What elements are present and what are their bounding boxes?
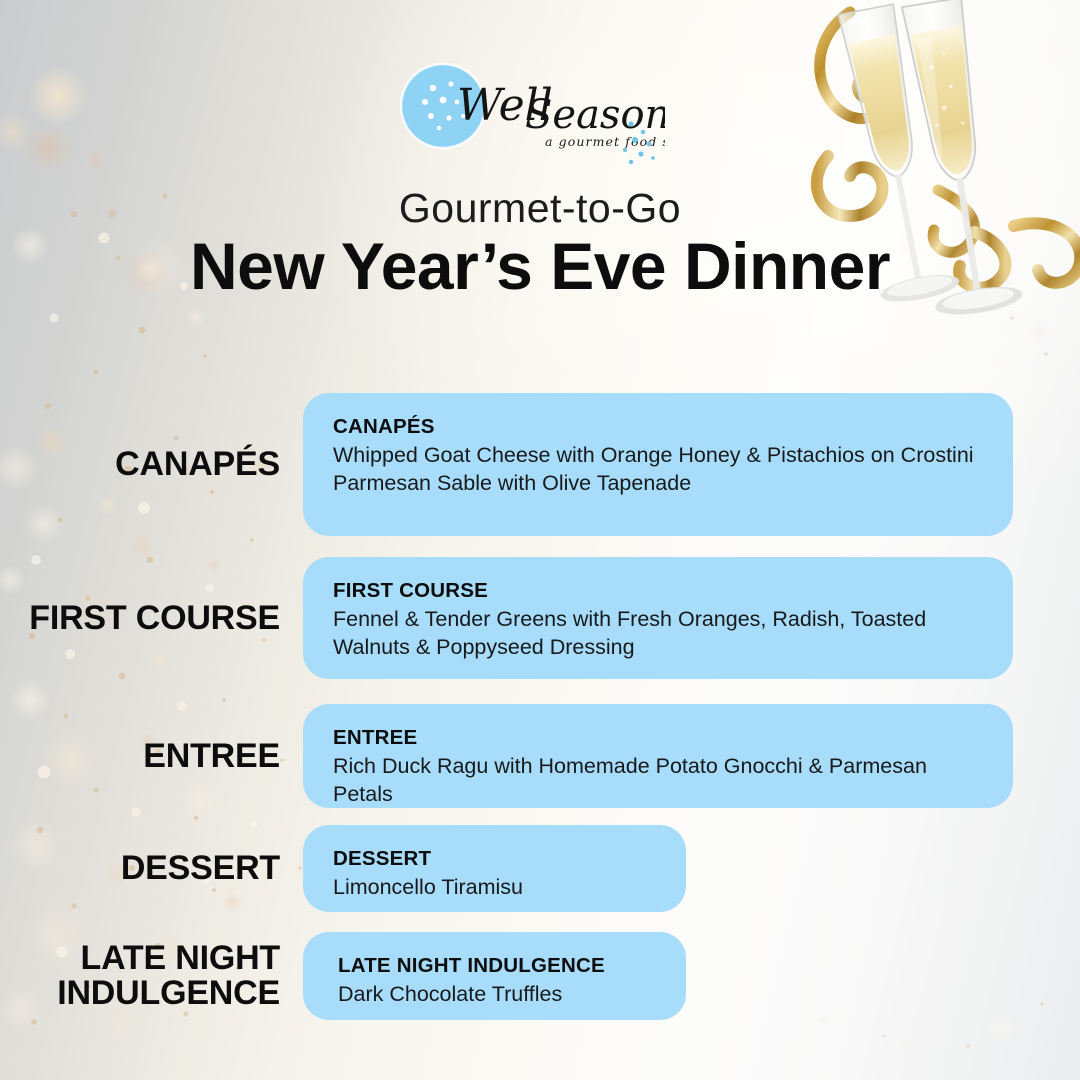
menu-row-label: DESSERT <box>0 851 280 886</box>
menu-row-label: ENTREE <box>0 739 280 774</box>
menu-row-entree: ENTREE ENTREE Rich Duck Ragu with Homema… <box>0 704 1080 808</box>
menu-panel-title: DESSERT <box>333 847 656 871</box>
menu-panel: FIRST COURSE Fennel & Tender Greens with… <box>303 557 1013 679</box>
menu-panel: DESSERT Limoncello Tiramisu <box>303 825 686 912</box>
brand-logo: Well Seasoned a gourmet food store <box>395 62 665 174</box>
menu-panel-description: Limoncello Tiramisu <box>333 873 656 901</box>
menu-row-first-course: FIRST COURSE FIRST COURSE Fennel & Tende… <box>0 557 1080 679</box>
menu-panel-description: Dark Chocolate Truffles <box>338 980 656 1008</box>
menu-panel-title: LATE NIGHT INDULGENCE <box>338 954 656 978</box>
menu-row-label: LATE NIGHT INDULGENCE <box>0 941 280 1010</box>
poster-canvas: Well Seasoned a gourmet food store Gourm… <box>0 0 1080 1080</box>
logo-tagline: a gourmet food store <box>545 134 665 149</box>
menu-panel-title: ENTREE <box>333 726 983 750</box>
menu-panel: ENTREE Rich Duck Ragu with Homemade Pota… <box>303 704 1013 808</box>
menu-row-canapes: CANAPÉS CANAPÉS Whipped Goat Cheese with… <box>0 393 1080 536</box>
well-seasoned-logo-svg: Well Seasoned a gourmet food store <box>395 62 665 174</box>
menu-panel: CANAPÉS Whipped Goat Cheese with Orange … <box>303 393 1013 536</box>
menu-list: CANAPÉS CANAPÉS Whipped Goat Cheese with… <box>0 380 1080 1020</box>
kicker-text: Gourmet-to-Go <box>0 185 1080 232</box>
menu-row-dessert: DESSERT DESSERT Limoncello Tiramisu <box>0 825 1080 912</box>
page-title: New Year’s Eve Dinner <box>0 228 1080 304</box>
menu-panel-title: CANAPÉS <box>333 415 983 439</box>
menu-row-label: FIRST COURSE <box>0 601 280 636</box>
menu-panel-description: Fennel & Tender Greens with Fresh Orange… <box>333 605 983 662</box>
menu-row-label: CANAPÉS <box>0 447 280 482</box>
menu-panel: LATE NIGHT INDULGENCE Dark Chocolate Tru… <box>303 932 686 1020</box>
menu-panel-description: Whipped Goat Cheese with Orange Honey & … <box>333 441 983 498</box>
menu-panel-description: Rich Duck Ragu with Homemade Potato Gnoc… <box>333 752 983 809</box>
menu-panel-title: FIRST COURSE <box>333 579 983 603</box>
menu-row-late-night-indulgence: LATE NIGHT INDULGENCE LATE NIGHT INDULGE… <box>0 932 1080 1020</box>
